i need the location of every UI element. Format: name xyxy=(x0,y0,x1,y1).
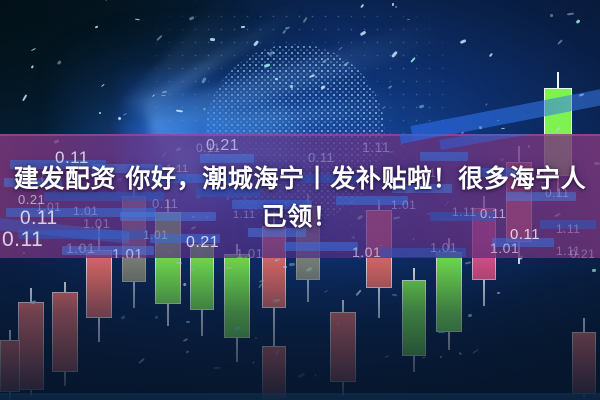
headline-line-2: 已领！ xyxy=(4,198,596,236)
ticker-number: 1.01 xyxy=(66,240,95,256)
bottom-fade xyxy=(0,240,600,400)
headline: 建发配资 你好，潮城海宁丨发补贴啦！很多海宁人 已领！ xyxy=(0,160,600,236)
particle xyxy=(210,38,215,41)
ticker-number: 0.21 xyxy=(186,234,219,252)
ticker-number: 1.01 xyxy=(236,246,263,258)
data-bar xyxy=(284,242,358,251)
particle xyxy=(567,12,574,15)
headline-line-1: 建发配资 你好，潮城海宁丨发补贴啦！很多海宁人 xyxy=(14,164,587,193)
ticker-number: 1.01 xyxy=(112,246,143,258)
ticker-number: 0.11 xyxy=(196,141,220,155)
banner-image: 0.110.211.110.111.111.010.211.010.111.01… xyxy=(0,0,600,400)
ticker-number: 1.11 xyxy=(362,139,390,155)
bottom-strip xyxy=(0,393,600,400)
ticker-number: 1.01 xyxy=(490,240,519,256)
ticker-number: 1.01 xyxy=(430,240,457,255)
particle xyxy=(290,85,293,88)
ticker-number: 0.21 xyxy=(570,247,595,258)
ticker-number: 1.01 xyxy=(352,244,381,258)
